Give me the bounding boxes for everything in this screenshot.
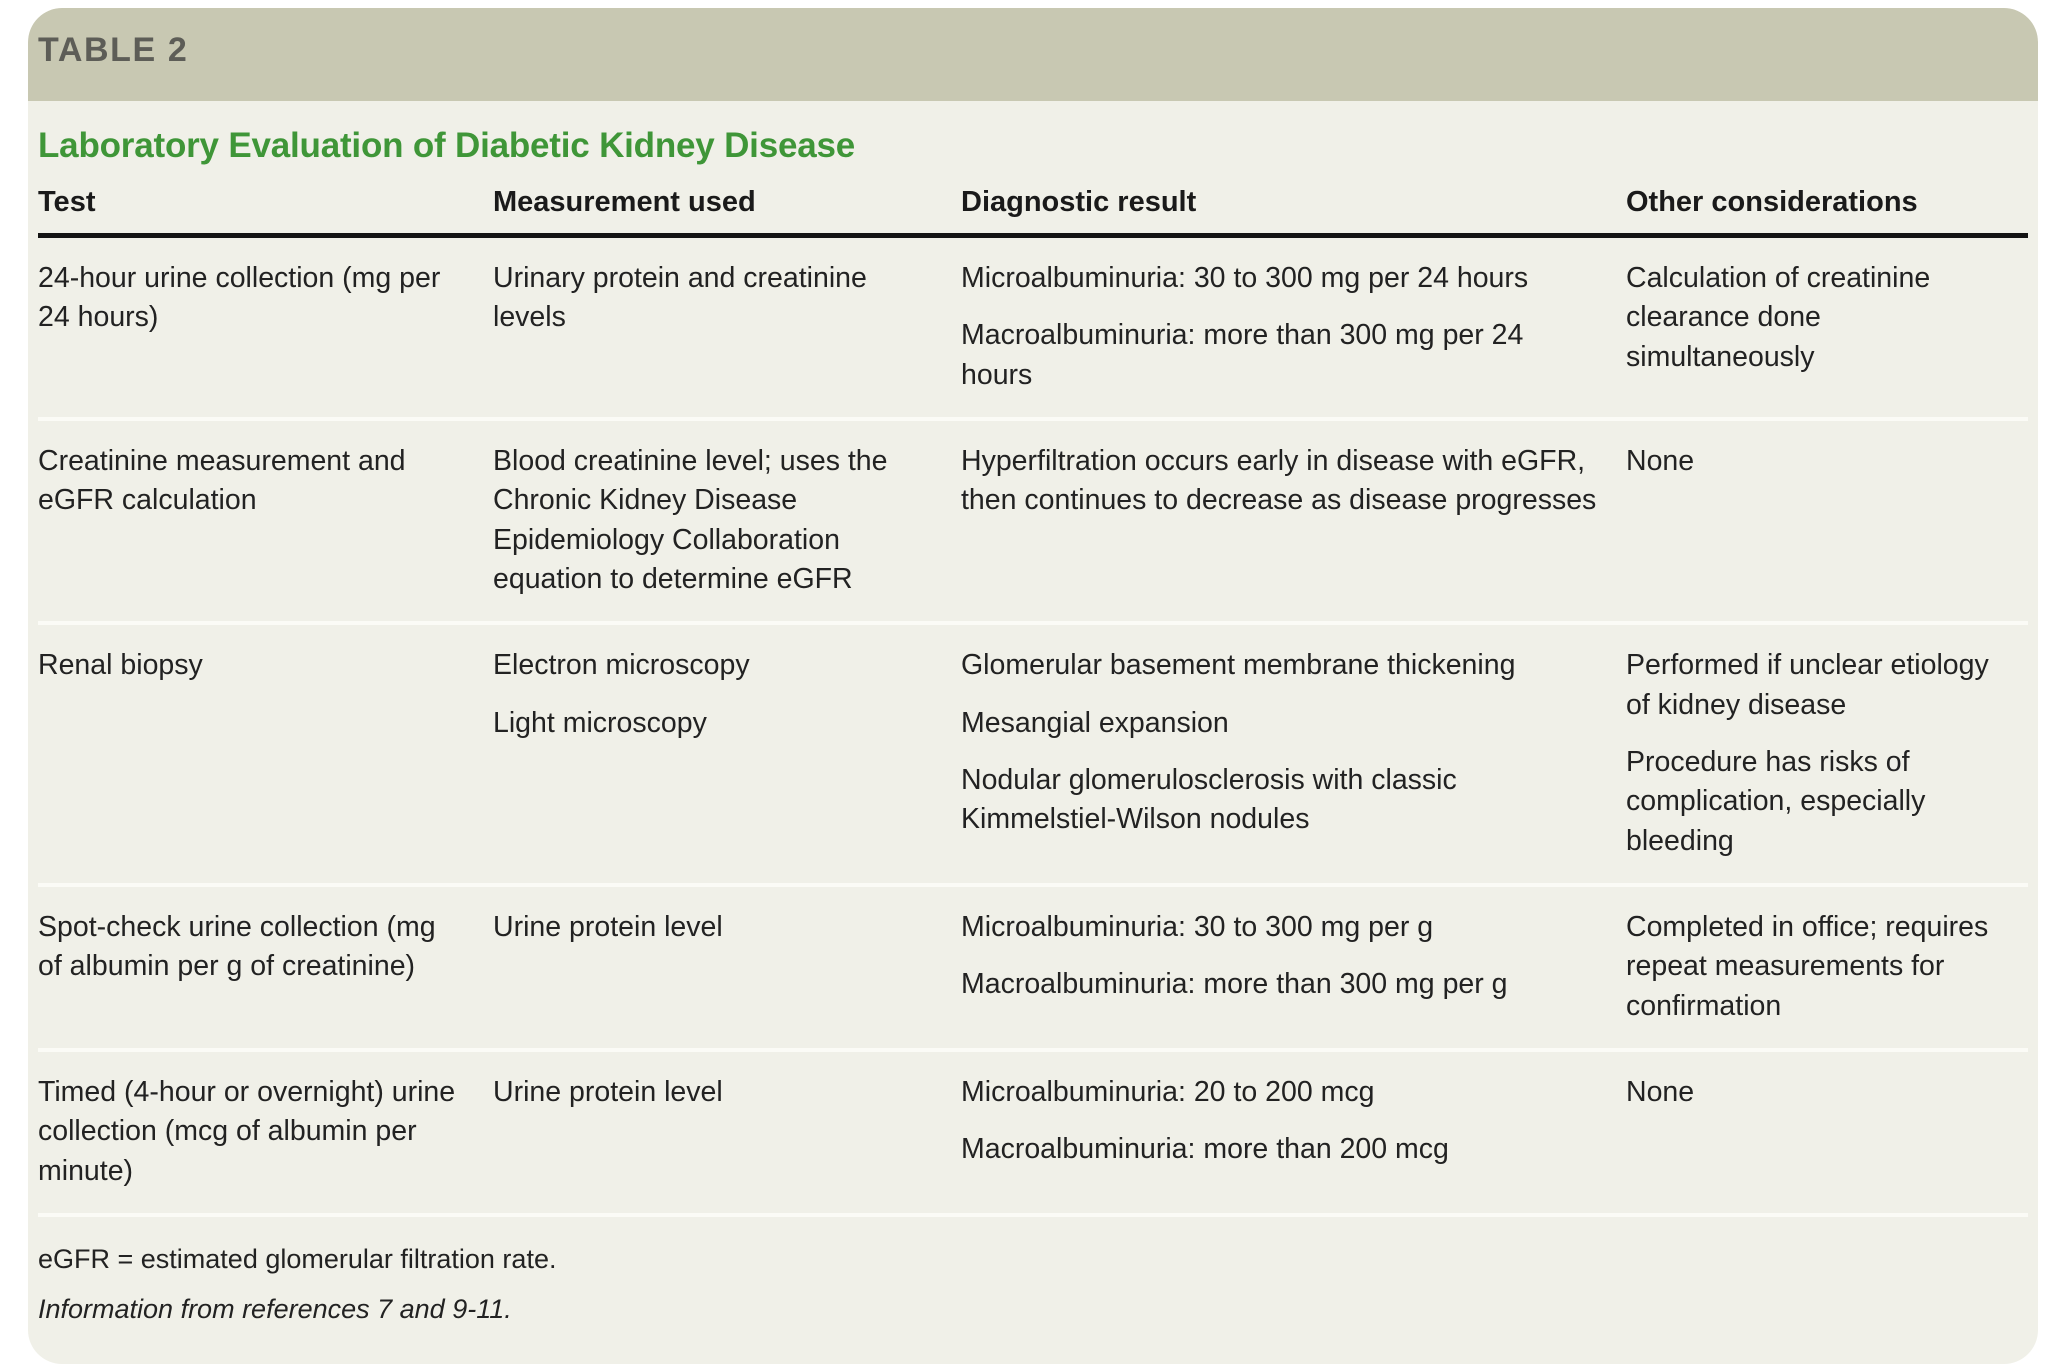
cell-paragraph: Performed if unclear etiology of kidney … xyxy=(1626,646,2002,725)
cell-measurement: Urine protein level xyxy=(493,885,961,1050)
cell-measurement: Urine protein level xyxy=(493,1050,961,1213)
cell-paragraph: Urine protein level xyxy=(493,1073,935,1112)
cell-paragraph: Procedure has risks of complication, esp… xyxy=(1626,743,2002,861)
table-number-band: TABLE 2 xyxy=(28,8,2038,101)
column-header-test: Test xyxy=(38,186,493,236)
cell-paragraph: Spot-check urine collection (mg of album… xyxy=(38,908,467,987)
cell-paragraph: Microalbuminuria: 30 to 300 mg per g xyxy=(961,908,1600,947)
cell-paragraph: Completed in office; requires repeat mea… xyxy=(1626,908,2002,1026)
table-row: Spot-check urine collection (mg of album… xyxy=(38,885,2028,1050)
cell-diagnostic: Hyperfiltration occurs early in disease … xyxy=(961,419,1626,623)
table-row: 24-hour urine collection (mg per 24 hour… xyxy=(38,236,2028,419)
cell-other: None xyxy=(1626,1050,2028,1213)
cell-paragraph: Urine protein level xyxy=(493,908,935,947)
cell-paragraph: 24-hour urine collection (mg per 24 hour… xyxy=(38,259,467,338)
footnote-abbreviation: eGFR = estimated glomerular filtration r… xyxy=(38,1239,2028,1280)
cell-test: Creatinine measurement and eGFR calculat… xyxy=(38,419,493,623)
cell-test: Timed (4-hour or overnight) urine collec… xyxy=(38,1050,493,1213)
footnote-source: Information from references 7 and 9-11. xyxy=(38,1289,2028,1330)
cell-paragraph: None xyxy=(1626,442,2002,481)
cell-paragraph: Microalbuminuria: 30 to 300 mg per 24 ho… xyxy=(961,259,1600,298)
column-header-diagnostic: Diagnostic result xyxy=(961,186,1626,236)
cell-measurement: Electron microscopyLight microscopy xyxy=(493,623,961,885)
table-number-label: TABLE 2 xyxy=(38,31,188,70)
cell-paragraph: Urinary protein and creatinine levels xyxy=(493,259,935,338)
cell-paragraph: Microalbuminuria: 20 to 200 mcg xyxy=(961,1073,1600,1112)
cell-paragraph: Renal biopsy xyxy=(38,646,467,685)
cell-diagnostic: Microalbuminuria: 30 to 300 mg per gMacr… xyxy=(961,885,1626,1050)
column-header-measurement: Measurement used xyxy=(493,186,961,236)
cell-other: None xyxy=(1626,419,2028,623)
cell-paragraph: Calculation of creatinine clearance done… xyxy=(1626,259,2002,377)
cell-paragraph: Light microscopy xyxy=(493,704,935,743)
cell-paragraph: Timed (4-hour or overnight) urine collec… xyxy=(38,1073,467,1191)
cell-diagnostic: Microalbuminuria: 30 to 300 mg per 24 ho… xyxy=(961,236,1626,419)
table-card: TABLE 2 Laboratory Evaluation of Diabeti… xyxy=(28,8,2038,1364)
cell-other: Performed if unclear etiology of kidney … xyxy=(1626,623,2028,885)
cell-test: 24-hour urine collection (mg per 24 hour… xyxy=(38,236,493,419)
cell-measurement: Blood creatinine level; uses the Chronic… xyxy=(493,419,961,623)
table-footnotes: eGFR = estimated glomerular filtration r… xyxy=(38,1213,2028,1330)
table-header: Test Measurement used Diagnostic result … xyxy=(38,186,2028,236)
cell-paragraph: Hyperfiltration occurs early in disease … xyxy=(961,442,1600,521)
table-row: Creatinine measurement and eGFR calculat… xyxy=(38,419,2028,623)
cell-test: Renal biopsy xyxy=(38,623,493,885)
cell-paragraph: Electron microscopy xyxy=(493,646,935,685)
cell-paragraph: Macroalbuminuria: more than 200 mcg xyxy=(961,1130,1600,1169)
cell-diagnostic: Microalbuminuria: 20 to 200 mcgMacroalbu… xyxy=(961,1050,1626,1213)
table-row: Renal biopsyElectron microscopyLight mic… xyxy=(38,623,2028,885)
cell-paragraph: Creatinine measurement and eGFR calculat… xyxy=(38,442,467,521)
cell-paragraph: Macroalbuminuria: more than 300 mg per 2… xyxy=(961,316,1600,395)
cell-paragraph: None xyxy=(1626,1073,2002,1112)
cell-paragraph: Glomerular basement membrane thickening xyxy=(961,646,1600,685)
table-header-row: Test Measurement used Diagnostic result … xyxy=(38,186,2028,236)
cell-other: Calculation of creatinine clearance done… xyxy=(1626,236,2028,419)
cell-paragraph: Mesangial expansion xyxy=(961,704,1600,743)
cell-paragraph: Macroalbuminuria: more than 300 mg per g xyxy=(961,965,1600,1004)
lab-evaluation-table: Test Measurement used Diagnostic result … xyxy=(38,186,2028,1213)
table-row: Timed (4-hour or overnight) urine collec… xyxy=(38,1050,2028,1213)
cell-paragraph: Nodular glomerulosclerosis with classic … xyxy=(961,761,1600,840)
column-header-other: Other considerations xyxy=(1626,186,2028,236)
cell-measurement: Urinary protein and creatinine levels xyxy=(493,236,961,419)
cell-diagnostic: Glomerular basement membrane thickeningM… xyxy=(961,623,1626,885)
cell-paragraph: Blood creatinine level; uses the Chronic… xyxy=(493,442,935,599)
table-body-rows: 24-hour urine collection (mg per 24 hour… xyxy=(38,236,2028,1213)
table-body: Laboratory Evaluation of Diabetic Kidney… xyxy=(28,101,2038,1364)
table-title: Laboratory Evaluation of Diabetic Kidney… xyxy=(38,101,2028,166)
cell-other: Completed in office; requires repeat mea… xyxy=(1626,885,2028,1050)
cell-test: Spot-check urine collection (mg of album… xyxy=(38,885,493,1050)
